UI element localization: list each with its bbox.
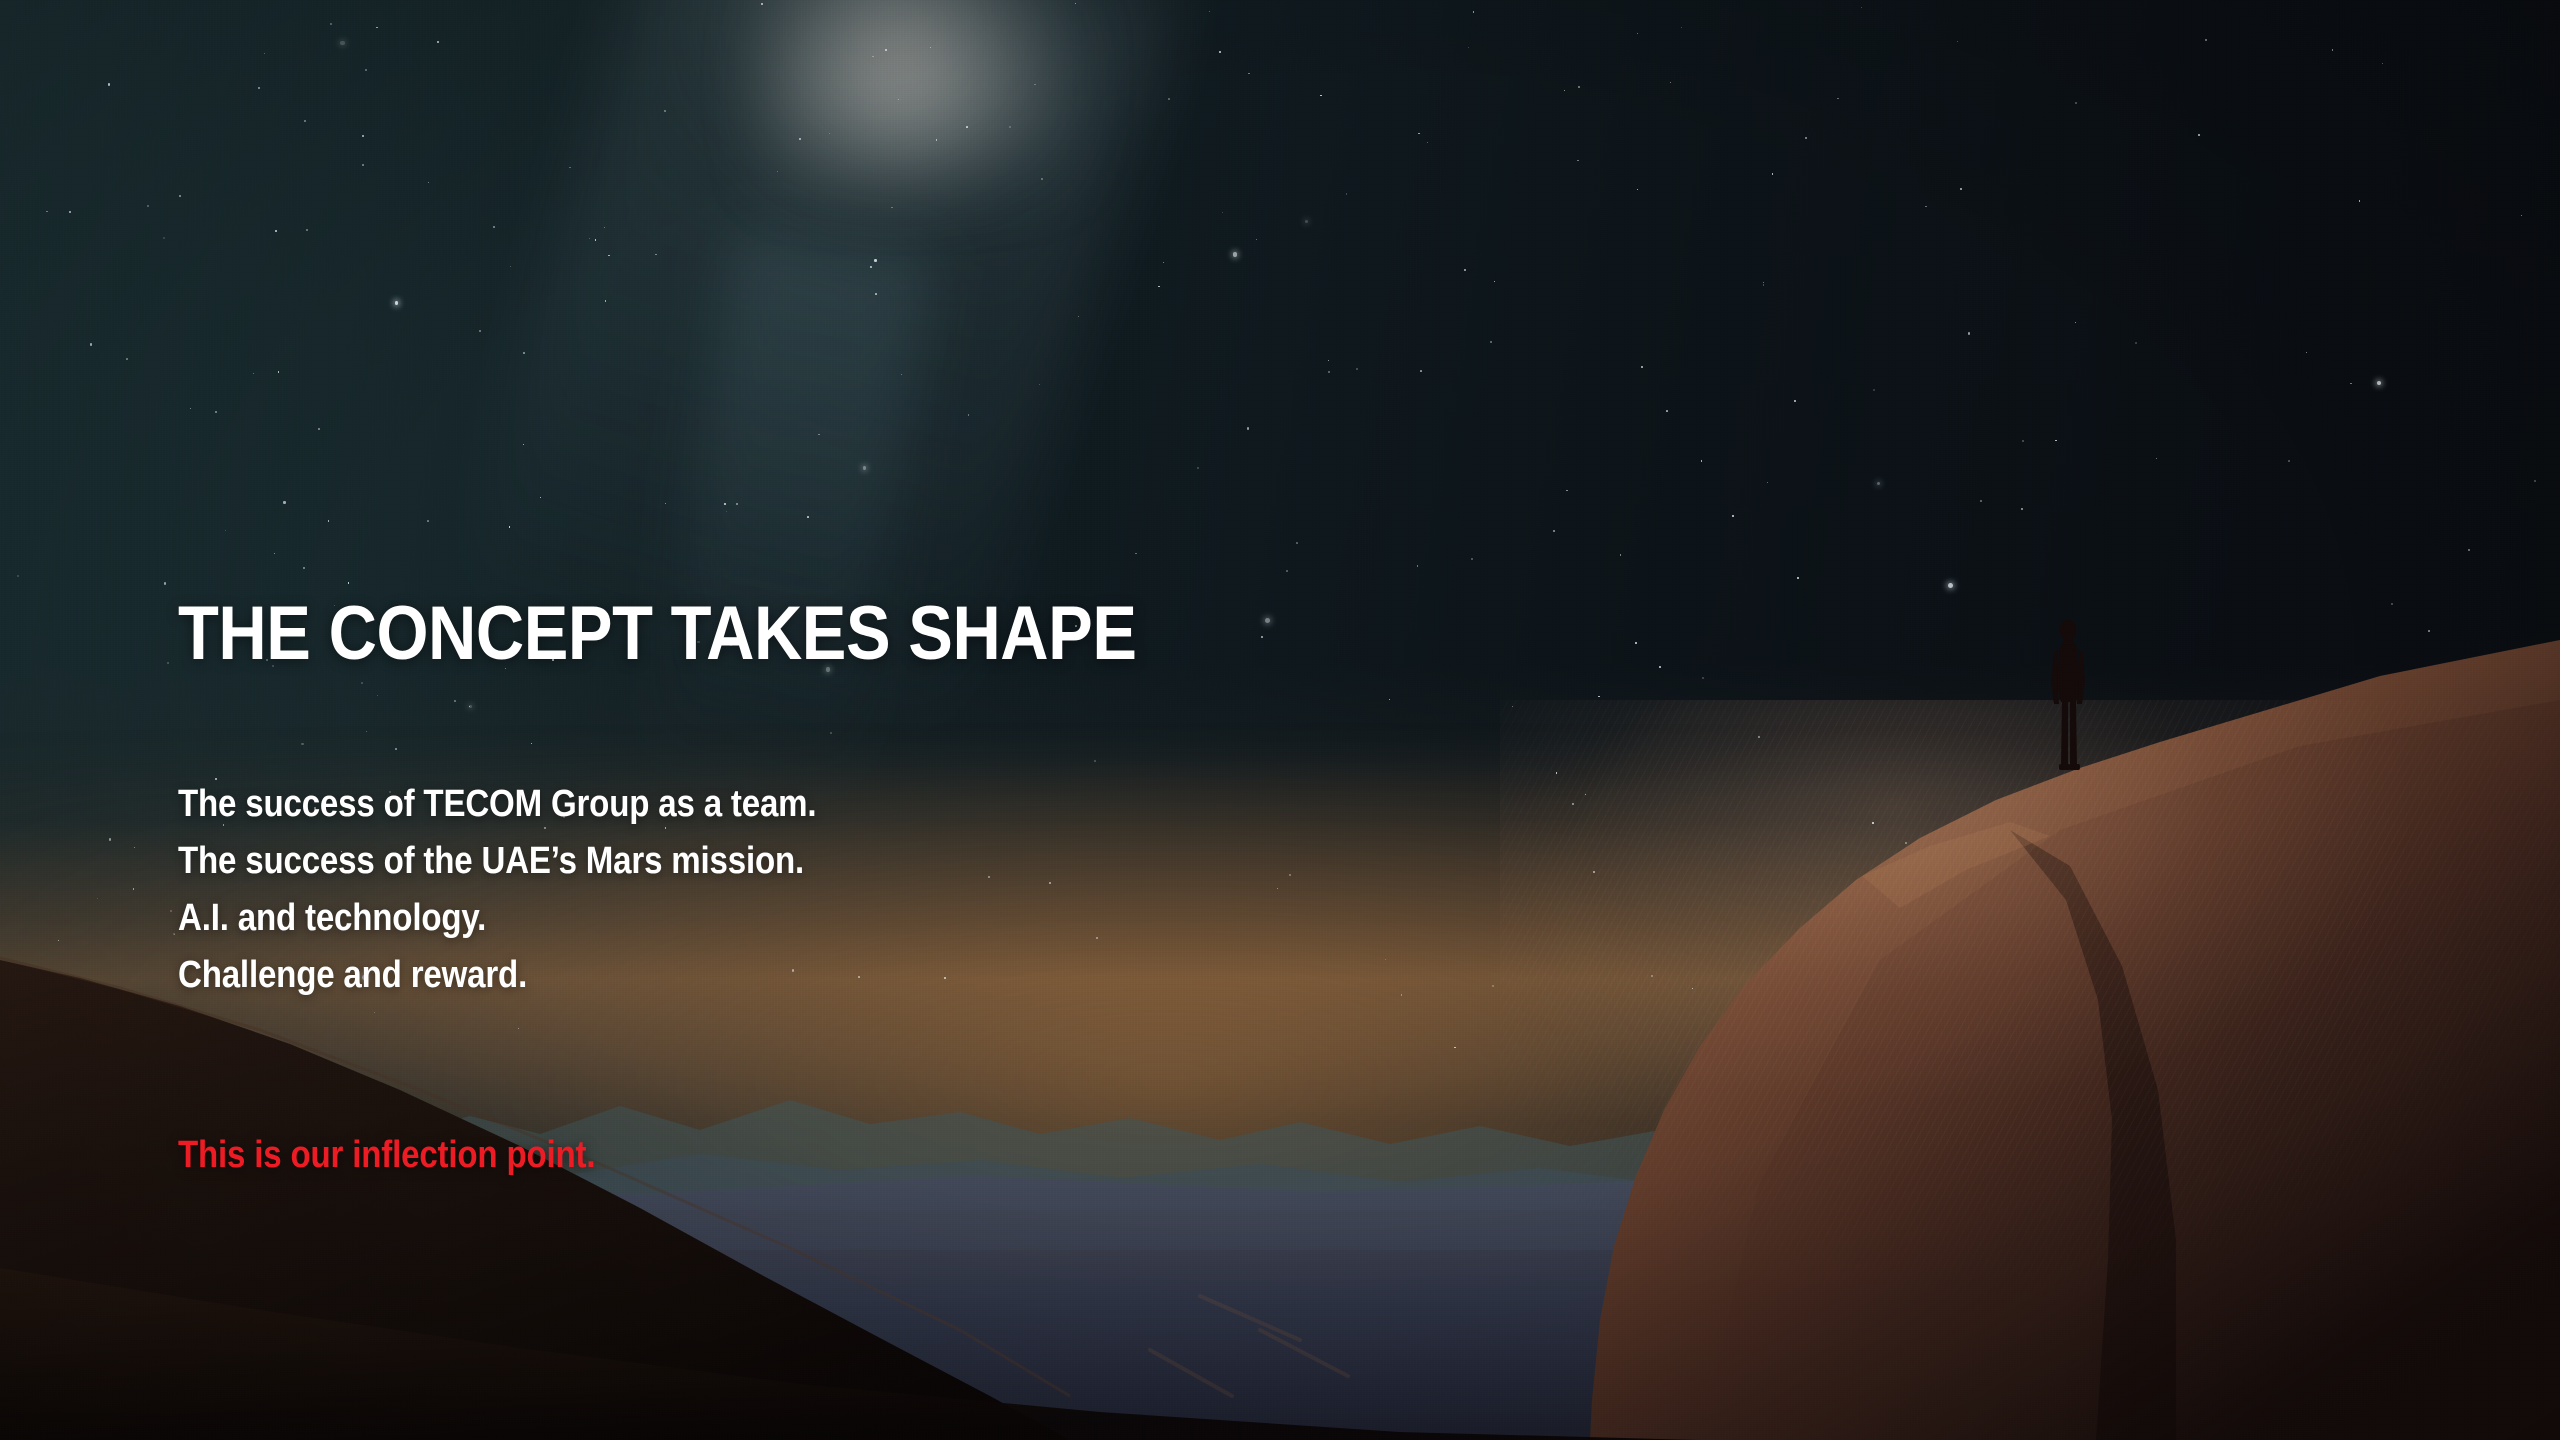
kicker-statement: This is our inflection point. [178,1130,595,1180]
body-paragraph: The success of TECOM Group as a team. Th… [178,776,912,1004]
page-title: THE CONCEPT TAKES SHAPE [178,596,1136,672]
body-line: A.I. and technology. [178,890,816,947]
slide-canvas: THE CONCEPT TAKES SHAPE The success of T… [0,0,2560,1440]
body-line: The success of TECOM Group as a team. [178,776,816,833]
slide-text-content: THE CONCEPT TAKES SHAPE The success of T… [178,0,1678,1440]
body-line: Challenge and reward. [178,947,816,1004]
body-line: The success of the UAE’s Mars mission. [178,833,816,890]
